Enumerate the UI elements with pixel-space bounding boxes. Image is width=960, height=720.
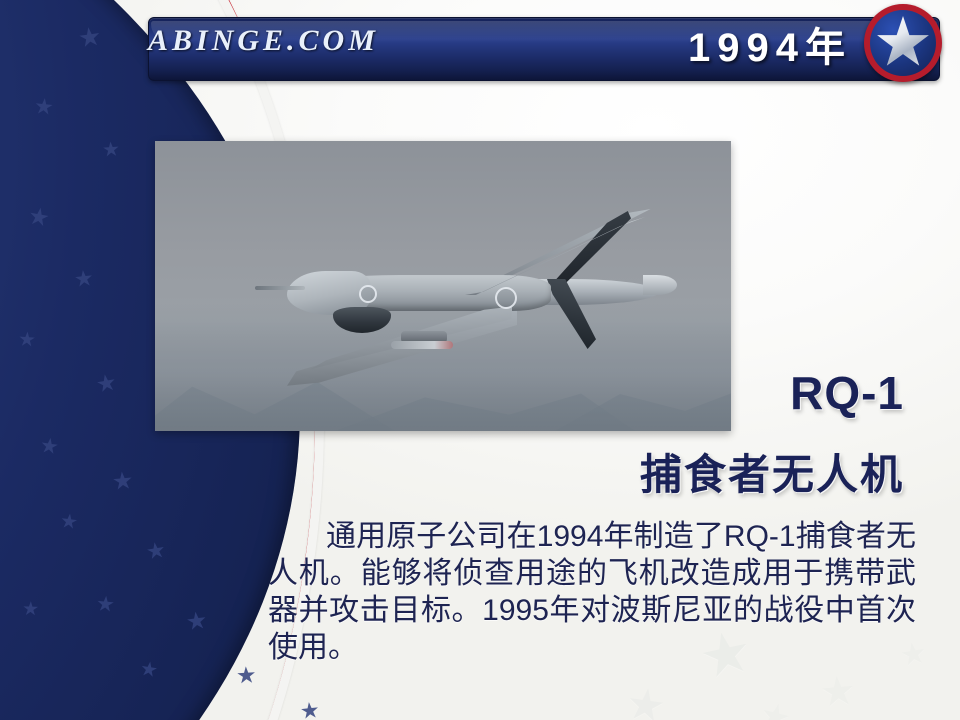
description-paragraph: 通用原子公司在1994年制造了RQ-1捕食者无人机。能够将侦查用途的飞机改造成用…: [268, 518, 916, 666]
drone-propeller-hub: [643, 275, 677, 295]
designation-title: RQ-1: [790, 366, 904, 420]
drone-illustration: [251, 183, 681, 383]
slide-canvas: ★★★★★ ★★★★★★★★★★★★★★★★★ ABINGE.COM 1994年: [0, 0, 960, 720]
flag-star-icon: ★: [235, 663, 257, 687]
rq-1-predator-drone-photo: [155, 141, 731, 431]
drone-pitot-tube: [255, 286, 305, 290]
name-title-cn: 捕食者无人机: [640, 441, 904, 502]
emblem-star-shape: [876, 16, 930, 70]
usaf-roundel-icon: [495, 287, 517, 309]
usaf-roundel-icon: [359, 285, 377, 303]
year-label: 1994年: [688, 15, 852, 73]
drone-missile: [391, 341, 453, 349]
drone-sensor-turret: [333, 307, 391, 333]
emblem-blue-disc: [870, 10, 936, 76]
site-name-label: ABINGE.COM: [148, 24, 379, 58]
flag-star-icon: ★: [299, 699, 321, 720]
star-emblem-icon: [864, 4, 942, 82]
